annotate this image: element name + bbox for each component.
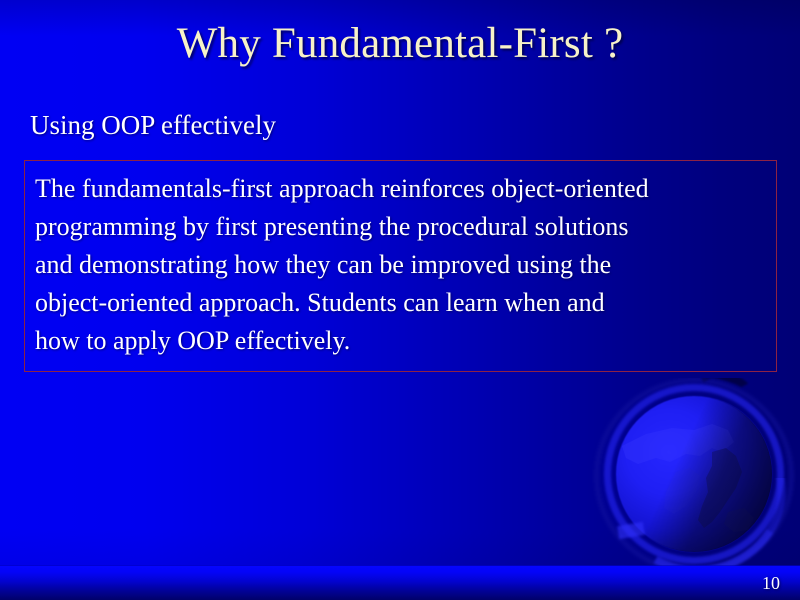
- body-line: The fundamentals-first approach reinforc…: [35, 170, 775, 208]
- body-line: programming by first presenting the proc…: [35, 208, 775, 246]
- globe-shading: [616, 396, 772, 552]
- globe-sphere: [616, 396, 772, 552]
- slide-subtitle: Using OOP effectively: [30, 108, 276, 142]
- body-line: and demonstrating how they can be improv…: [35, 246, 775, 284]
- globe-axis-arc: [698, 378, 754, 401]
- globe-stand-arc: [610, 478, 790, 578]
- body-text: The fundamentals-first approach reinforc…: [35, 170, 775, 360]
- page-number: 10: [0, 572, 780, 594]
- body-text-box: The fundamentals-first approach reinforc…: [24, 160, 777, 372]
- globe-icon: [588, 378, 800, 578]
- body-line: object-oriented approach. Students can l…: [35, 284, 775, 322]
- globe-outer-ring: [594, 378, 794, 574]
- globe-continents: [616, 396, 772, 552]
- globe-stand-knob: [617, 522, 645, 539]
- presentation-slide: Why Fundamental-First ? Using OOP effect…: [0, 0, 800, 600]
- body-line: how to apply OOP effectively.: [35, 322, 775, 360]
- globe-stand: [610, 478, 790, 578]
- globe-inner-ring: [604, 384, 784, 564]
- slide-title: Why Fundamental-First ?: [0, 18, 800, 70]
